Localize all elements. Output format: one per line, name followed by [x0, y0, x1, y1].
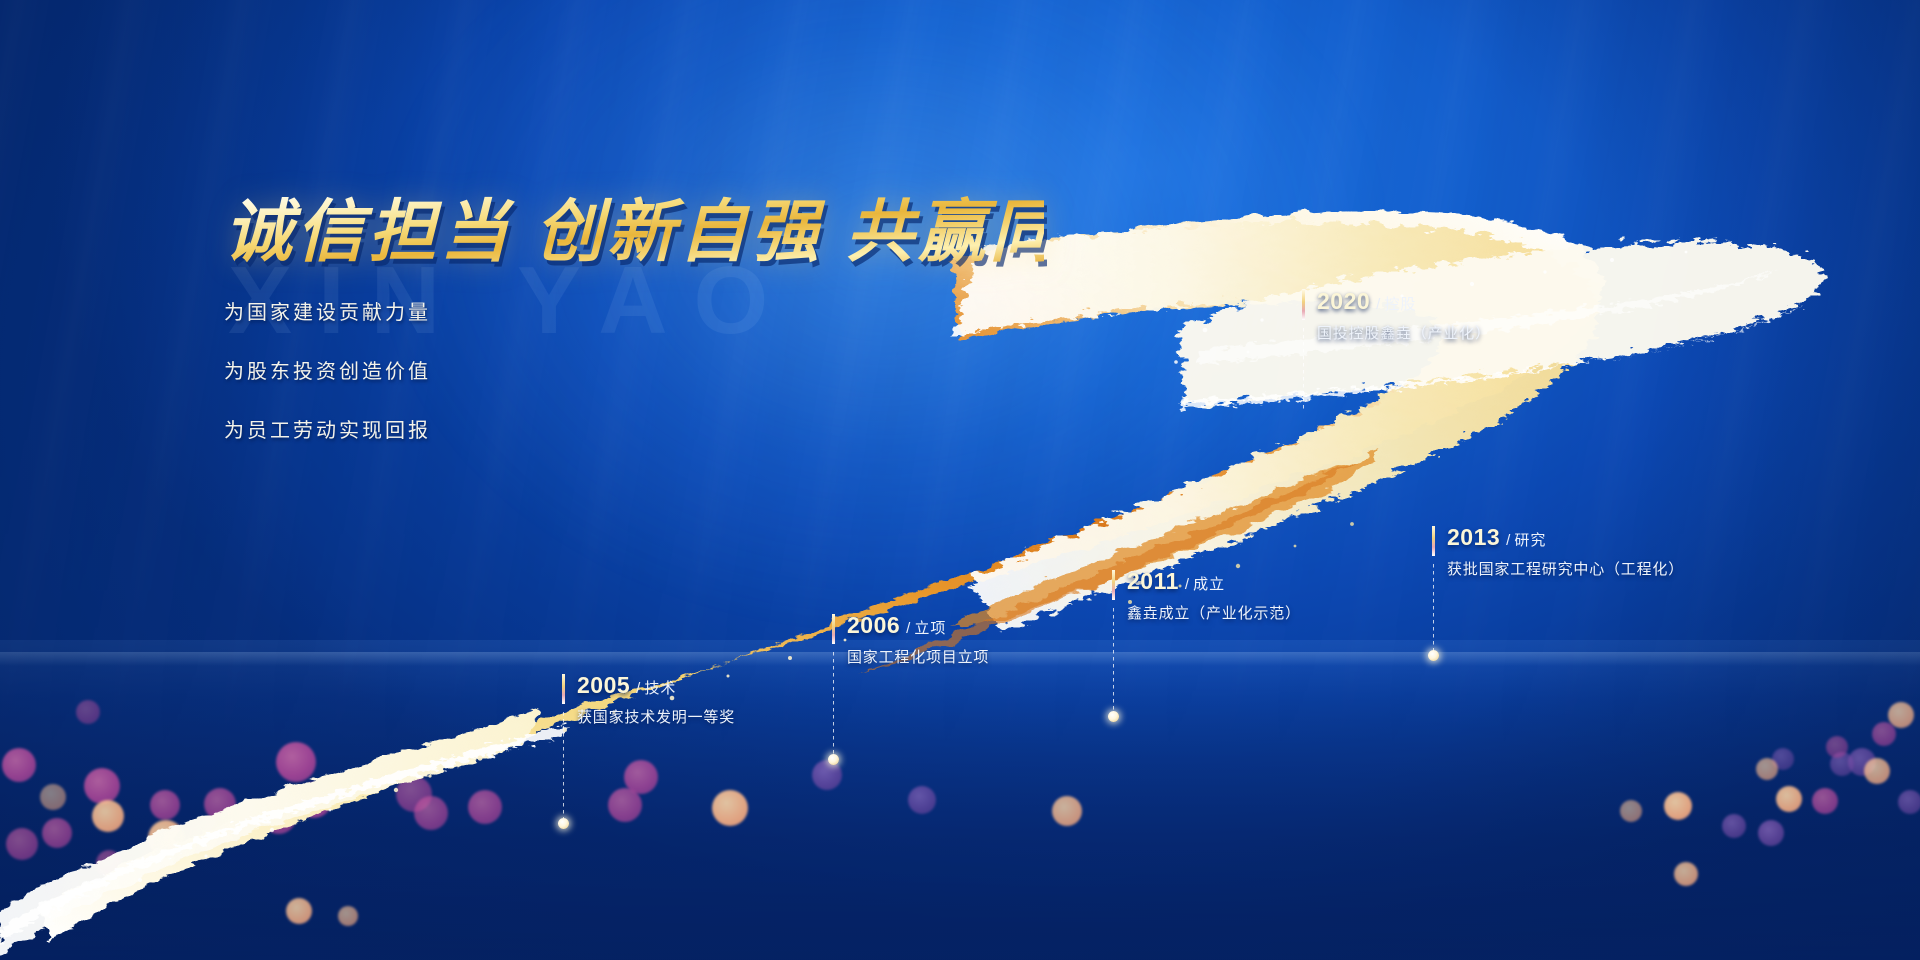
timeline-year: 2006	[847, 612, 900, 638]
timeline-leader-line-2011	[1113, 608, 1114, 713]
timeline-tag: 技术	[644, 680, 676, 697]
timeline-dot-2013	[1428, 650, 1439, 661]
timeline-accent-bar	[832, 614, 835, 644]
timeline-tag: 研究	[1514, 532, 1546, 549]
slogan-list: 为国家建设贡献力量 为股东投资创造价值 为员工劳动实现回报	[224, 296, 431, 473]
timeline-separator: /	[636, 680, 640, 697]
timeline-accent-bar	[562, 674, 565, 704]
timeline-separator: /	[1376, 296, 1380, 313]
timeline-year: 2011	[1127, 568, 1179, 594]
timeline-year: 2005	[577, 672, 630, 698]
timeline-year-row: 2005/技术	[577, 672, 676, 699]
timeline-year-row: 2013/研究	[1447, 524, 1546, 551]
timeline-year-row: 2006/立项	[847, 612, 946, 639]
timeline-year: 2020	[1317, 288, 1370, 314]
slogan-line-2: 为股东投资创造价值	[224, 355, 431, 384]
timeline-description: 国家工程化项目立项	[847, 646, 989, 667]
timeline-accent-bar	[1302, 290, 1305, 320]
timeline-description: 国投控股鑫垚（产业化）	[1317, 322, 1491, 343]
timeline-dot-2005	[558, 818, 569, 829]
timeline-dot-2006	[828, 754, 839, 765]
timeline-accent-bar	[1112, 570, 1115, 600]
timeline-dot-2011	[1108, 711, 1119, 722]
page-title: 诚信担当 创新自强 共赢同享	[224, 196, 1044, 268]
slogan-line-1: 为国家建设贡献力量	[224, 296, 431, 325]
brush-stroke-artwork	[0, 0, 1920, 960]
timeline-separator: /	[906, 620, 910, 637]
banner-canvas: XIN YAO 诚信担当 创新自强 共赢同享 为国家建设贡献力量 为股东投资创造…	[0, 0, 1920, 960]
timeline-description: 获批国家工程研究中心（工程化）	[1447, 558, 1684, 579]
timeline-leader-line-2006	[833, 652, 834, 756]
timeline-tag: 立项	[914, 620, 946, 637]
timeline-year: 2013	[1447, 524, 1500, 550]
timeline-leader-line-2013	[1433, 564, 1434, 652]
timeline-leader-line-2005	[563, 712, 564, 820]
timeline-separator: /	[1185, 576, 1189, 593]
timeline-description: 获国家技术发明一等奖	[577, 706, 735, 727]
timeline-accent-bar	[1432, 526, 1435, 556]
timeline-separator: /	[1506, 532, 1510, 549]
timeline-tag: 控股	[1384, 296, 1416, 313]
timeline-year-row: 2020/控股	[1317, 288, 1416, 315]
timeline-description: 鑫垚成立（产业化示范）	[1127, 602, 1301, 623]
timeline-year-row: 2011/成立	[1127, 568, 1225, 595]
headline-block: XIN YAO 诚信担当 创新自强 共赢同享 为国家建设贡献力量 为股东投资创造…	[224, 196, 1044, 268]
timeline-tag: 成立	[1193, 576, 1225, 593]
slogan-line-3: 为员工劳动实现回报	[224, 414, 431, 443]
timeline-leader-line-2020	[1303, 328, 1304, 412]
